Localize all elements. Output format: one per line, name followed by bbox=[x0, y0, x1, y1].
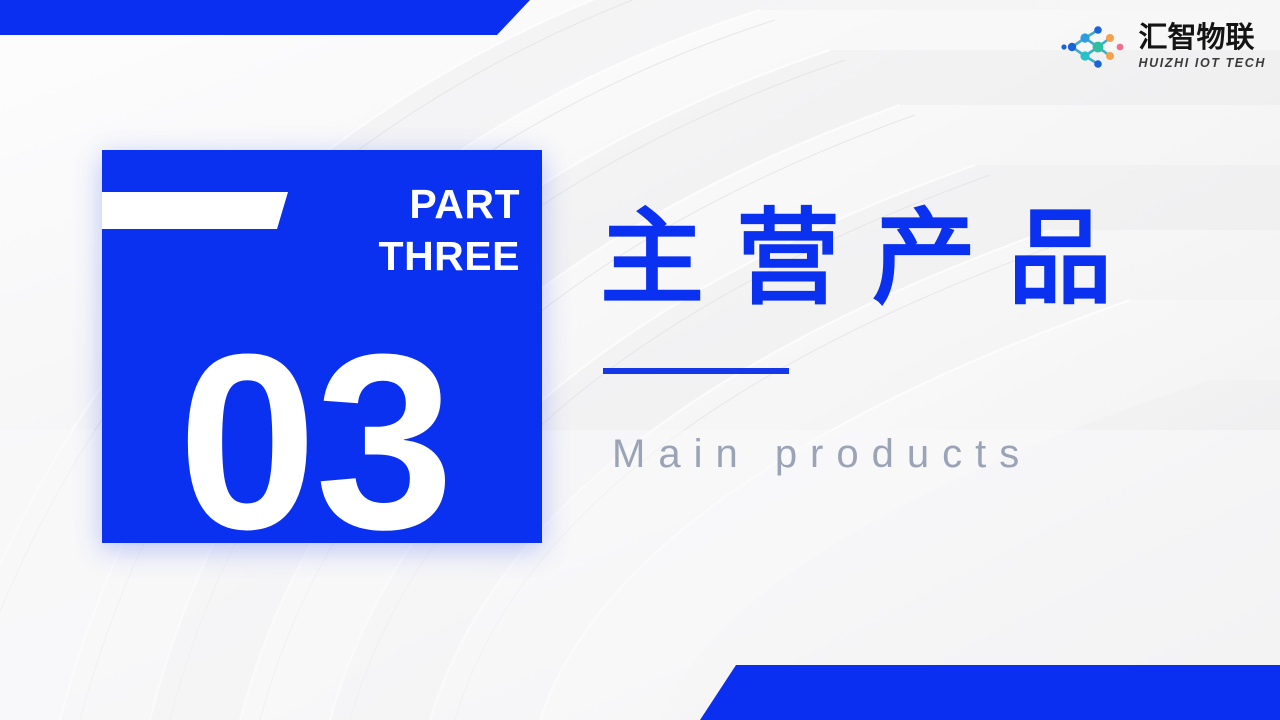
slide-canvas: PART THREE 03 主营产品 Main products bbox=[0, 0, 1280, 720]
title-underline-rule bbox=[603, 368, 789, 374]
page-title: 主营产品 bbox=[600, 205, 1144, 314]
part-label: PART THREE bbox=[260, 178, 520, 283]
logo-text-group: 汇智物联 HUIZHI IOT TECH bbox=[1139, 24, 1266, 70]
molecule-network-icon bbox=[1058, 25, 1132, 69]
section-number: 03 bbox=[102, 317, 528, 567]
logo-name-en: HUIZHI IOT TECH bbox=[1139, 57, 1266, 70]
part-label-line1: PART bbox=[260, 178, 520, 230]
top-left-blue-banner bbox=[0, 0, 530, 35]
brand-logo: 汇智物联 HUIZHI IOT TECH bbox=[1058, 24, 1266, 70]
part-label-line2: THREE bbox=[260, 230, 520, 282]
bottom-right-blue-banner bbox=[700, 665, 1280, 720]
logo-name-cn: 汇智物联 bbox=[1139, 24, 1266, 53]
section-card: PART THREE 03 bbox=[102, 150, 542, 543]
page-subtitle: Main products bbox=[612, 432, 1032, 477]
